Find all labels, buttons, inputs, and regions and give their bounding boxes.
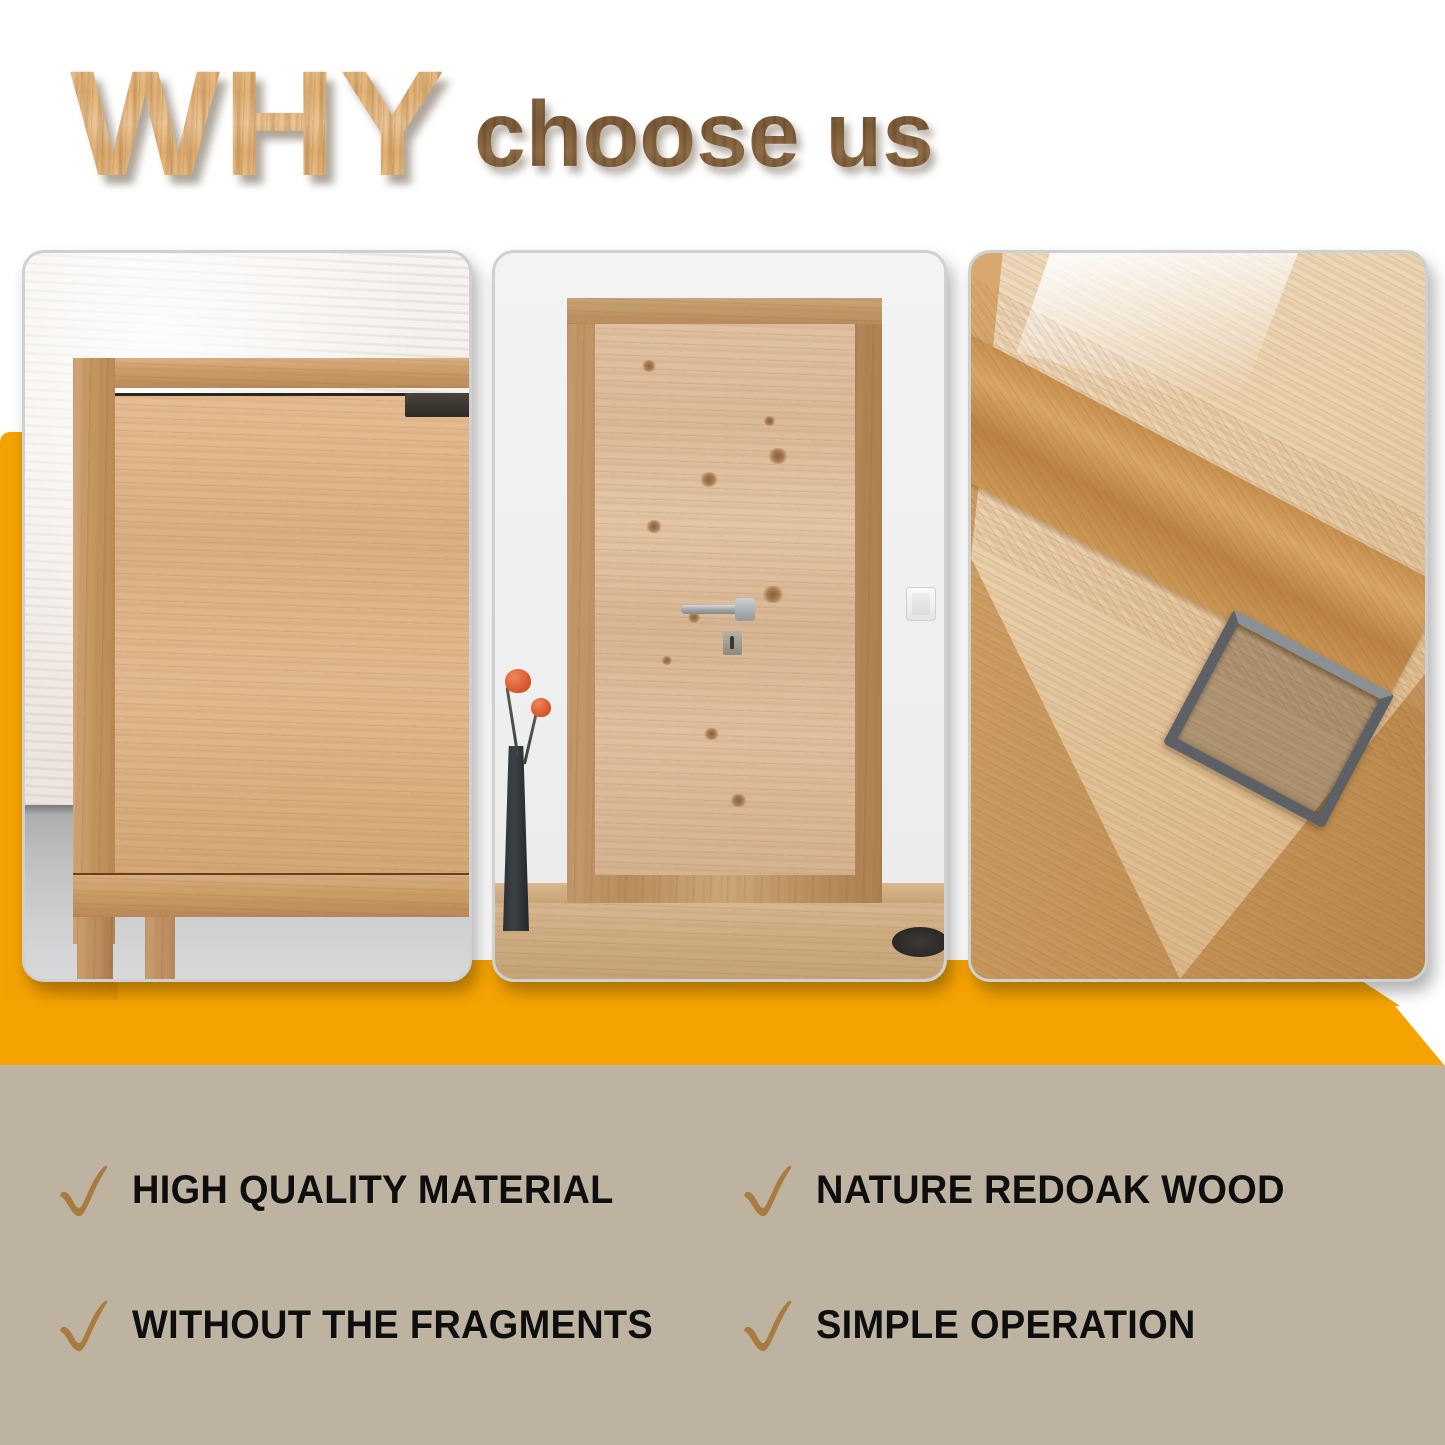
feature-label: HIGH QUALITY MATERIAL (132, 1168, 614, 1213)
light-switch (906, 587, 936, 621)
door-frame-header (567, 298, 882, 324)
feature-item-nature-redoak-wood: NATURE REDOAK WOOD (742, 1123, 1406, 1258)
feature-label: NATURE REDOAK WOOD (816, 1168, 1285, 1213)
gallery-card-oak-edge[interactable] (968, 250, 1428, 982)
check-icon (742, 1163, 794, 1219)
poster-header: WHY choose us (0, 0, 1445, 230)
photo-gallery (0, 250, 1445, 982)
check-icon (742, 1298, 794, 1354)
feature-item-without-the-fragments: WITHOUT THE FRAGMENTS (58, 1258, 722, 1393)
feature-item-high-quality-material: HIGH QUALITY MATERIAL (58, 1123, 722, 1258)
gallery-card-oak-door[interactable] (492, 250, 947, 982)
oak-edge-handle-photo (971, 253, 1425, 979)
poppy-flower-left (505, 669, 531, 693)
cabinet-handle (405, 393, 469, 417)
check-icon (58, 1298, 110, 1354)
oak-cabinet-photo (25, 253, 469, 979)
wood-floor (495, 903, 944, 979)
why-choose-us-poster: WHY choose us (0, 0, 1445, 1445)
feature-grid: HIGH QUALITY MATERIAL NATURE REDOAK WOOD… (0, 1065, 1445, 1445)
page-title-secondary: choose us (474, 90, 934, 178)
poppy-flower-right (531, 698, 551, 717)
oak-door-leaf (595, 324, 855, 875)
floor-mat (892, 927, 944, 957)
page-title-primary: WHY (70, 59, 447, 188)
cabinet-leg-back (145, 917, 175, 979)
gallery-card-oak-cabinet[interactable] (22, 250, 472, 982)
features-footer: HIGH QUALITY MATERIAL NATURE REDOAK WOOD… (0, 1065, 1445, 1445)
check-icon (58, 1163, 110, 1219)
door-lever-handle (681, 605, 747, 614)
cabinet-side-panel (73, 358, 115, 944)
cabinet-drawer-front (115, 393, 469, 873)
orange-accent-band (0, 1000, 1445, 1068)
oak-door-photo (495, 253, 944, 979)
cabinet-bottom-rail (73, 873, 469, 917)
feature-label: WITHOUT THE FRAGMENTS (132, 1303, 653, 1348)
feature-item-simple-operation: SIMPLE OPERATION (742, 1258, 1406, 1393)
feature-label: SIMPLE OPERATION (816, 1303, 1196, 1348)
cabinet-top-panel (73, 358, 469, 388)
door-keyhole-plate (723, 631, 742, 655)
cabinet-leg-front (77, 917, 113, 979)
